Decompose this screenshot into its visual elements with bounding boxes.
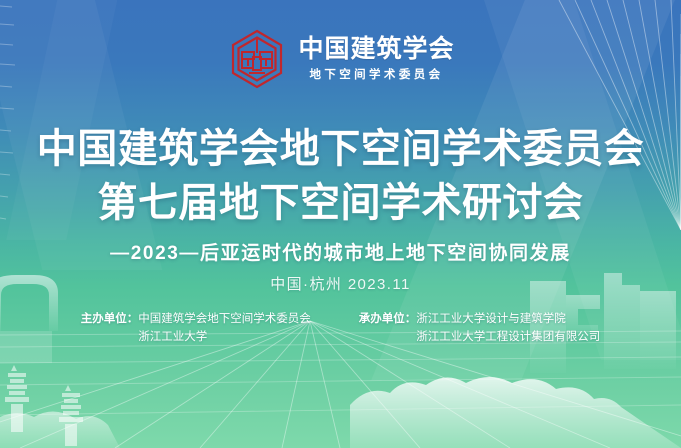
cloud-hills [0, 377, 681, 448]
conference-poster: 中国建筑学会 地下空间学术委员会 中国建筑学会地下空间学术委员会 第七届地下空间… [0, 0, 681, 448]
co-organizer-value-2: 浙江工业大学工程设计集团有限公司 [416, 328, 600, 346]
host-organizer-label: 主办单位： [81, 310, 139, 328]
poster-venue-date: 中国·杭州 2023.11 [0, 273, 681, 294]
host-organizer-value-1: 中国建筑学会地下空间学术委员会 [138, 310, 311, 328]
co-organizer-values: 浙江工业大学设计与建筑学院 浙江工业大学工程设计集团有限公司 [416, 310, 600, 346]
organizers: 主办单位： 中国建筑学会地下空间学术委员会 浙江工业大学 承办单位： 浙江工业大… [0, 310, 681, 346]
co-organizer-value-1: 浙江工业大学设计与建筑学院 [416, 310, 600, 328]
headline-line-2: 第七届地下空间学术研讨会 [0, 176, 681, 230]
society-name: 中国建筑学会 [298, 36, 454, 62]
city-skyline-silhouette [0, 273, 681, 448]
co-organizer: 承办单位： 浙江工业大学设计与建筑学院 浙江工业大学工程设计集团有限公司 [359, 310, 601, 346]
host-organizer: 主办单位： 中国建筑学会地下空间学术委员会 浙江工业大学 [81, 310, 311, 346]
pagoda-towers [5, 365, 83, 446]
poster-headline: 中国建筑学会地下空间学术委员会 第七届地下空间学术研讨会 [0, 122, 681, 230]
host-organizer-value-2: 浙江工业大学 [138, 328, 311, 346]
co-organizer-label: 承办单位： [359, 310, 417, 328]
society-logo-text: 中国建筑学会 地下空间学术委员会 [298, 36, 454, 81]
caus-hexagon-emblem-icon [226, 28, 288, 90]
poster-theme: —2023—后亚运时代的城市地上地下空间协同发展 [0, 238, 681, 265]
society-logo: 中国建筑学会 地下空间学术委员会 [0, 28, 681, 90]
host-organizer-values: 中国建筑学会地下空间学术委员会 浙江工业大学 [138, 310, 311, 346]
headline-line-1: 中国建筑学会地下空间学术委员会 [0, 122, 681, 176]
society-committee-name: 地下空间学术委员会 [309, 66, 443, 82]
